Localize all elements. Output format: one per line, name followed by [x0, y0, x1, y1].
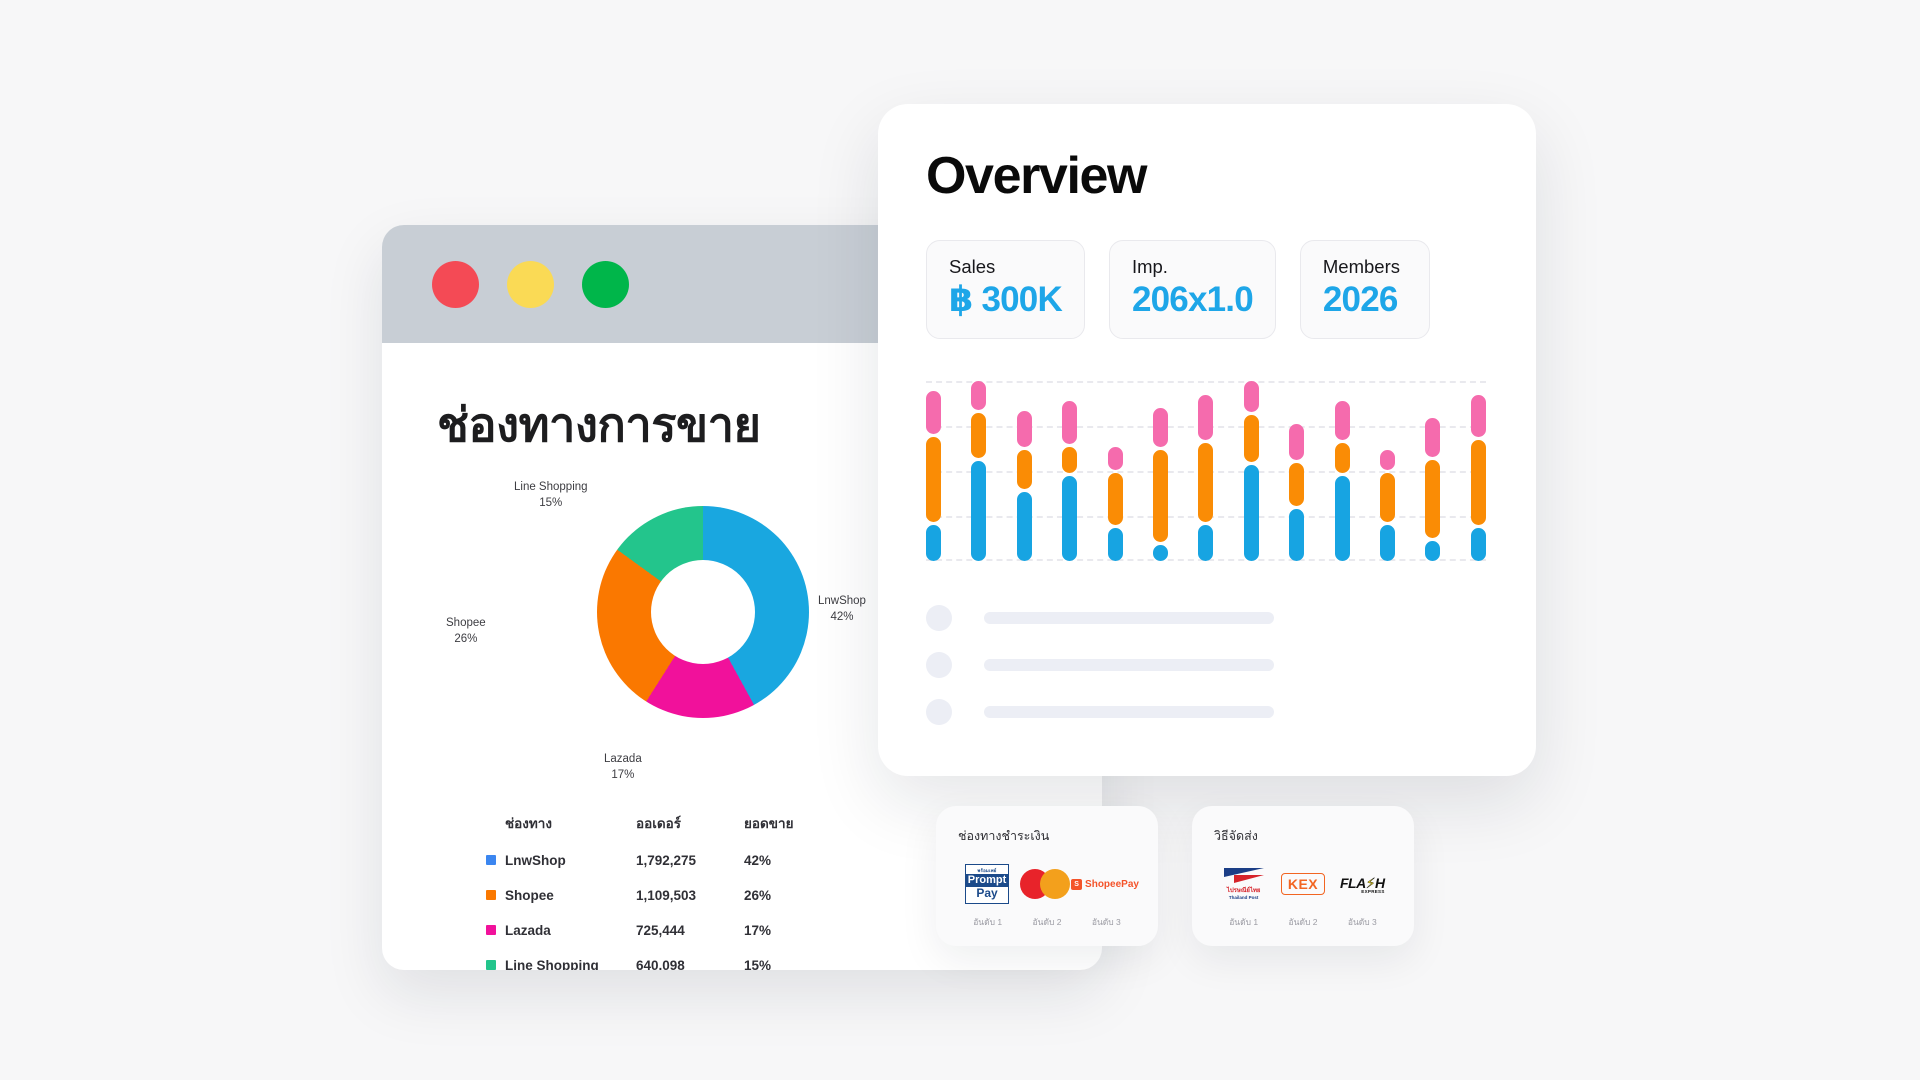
screenshot-stage: ช่องทางการขาย Line Shopping 15% LnwShop …: [0, 0, 1920, 1080]
payment-item-mastercard[interactable]: [1016, 869, 1074, 899]
channel-color-swatch: [486, 960, 496, 970]
flash-express-logo: FLA⚡H EXPRESS: [1340, 875, 1385, 894]
column-header-orders: ออเดอร์: [636, 812, 744, 834]
thailand-post-red-chevron-icon: [1234, 875, 1264, 883]
bar-column[interactable]: [1289, 381, 1304, 561]
flash-text-part1: FLA: [1340, 875, 1366, 891]
cell-channel: Line Shopping: [486, 958, 636, 971]
donut-label-pct: 42%: [818, 610, 866, 626]
stat-value: 2026: [1323, 280, 1407, 320]
minimize-window-button[interactable]: [507, 261, 554, 308]
shipping-item-flash-express[interactable]: FLA⚡H EXPRESS: [1333, 875, 1392, 894]
bar-segment-blue: [1017, 492, 1032, 561]
promptpay-logo: พร้อมเพย์ Prompt Pay: [965, 864, 1009, 904]
bar-column[interactable]: [1062, 381, 1077, 561]
placeholder-list: [926, 605, 1488, 725]
channel-color-swatch: [486, 855, 496, 865]
bar-segment-pink: [926, 391, 941, 434]
bar-column[interactable]: [1198, 381, 1213, 561]
bar-segment-orange: [1380, 473, 1395, 522]
bar-segment-blue: [971, 461, 986, 561]
bar-segment-orange: [926, 437, 941, 522]
bar-segment-blue: [1244, 465, 1259, 561]
payment-card-title: ช่องทางชำระเงิน: [958, 826, 1136, 846]
bar-segment-pink: [1380, 450, 1395, 470]
bar-column[interactable]: [926, 381, 941, 561]
bar-segment-blue: [926, 525, 941, 561]
shipping-item-thailand-post[interactable]: ไปรษณีย์ไทย Thailand Post: [1214, 868, 1273, 900]
donut-label-text: LnwShop: [818, 595, 866, 607]
bar-segment-pink: [1017, 411, 1032, 447]
bar-segment-orange: [1425, 460, 1440, 539]
bar-segment-pink: [1335, 401, 1350, 440]
bar-segment-orange: [1335, 443, 1350, 472]
stat-card-group: Sales฿ 300KImp.206x1.0Members2026: [926, 240, 1488, 339]
payment-methods-card: ช่องทางชำระเงิน พร้อมเพย์ Prompt Pay S S…: [936, 806, 1158, 946]
bar-column[interactable]: [1108, 381, 1123, 561]
donut-label-pct: 17%: [604, 768, 642, 784]
shipping-rank-3: อันดับ 3: [1333, 915, 1392, 929]
mastercard-orange-circle-icon: [1040, 869, 1070, 899]
cell-channel-label: Lazada: [505, 923, 551, 938]
column-header-channel: ช่องทาง: [486, 812, 636, 834]
donut-label-text: Line Shopping: [514, 481, 588, 493]
list-item[interactable]: [926, 605, 1488, 631]
cell-orders: 640,098: [636, 958, 744, 971]
bar-segment-orange: [1198, 443, 1213, 522]
payment-logo-row: พร้อมเพย์ Prompt Pay S ShopeePay: [958, 862, 1136, 906]
payment-rank-row: อันดับ 1 อันดับ 2 อันดับ 3: [958, 915, 1136, 929]
cell-channel-label: Shopee: [505, 888, 554, 903]
bar-column[interactable]: [971, 381, 986, 561]
shipping-logo-row: ไปรษณีย์ไทย Thailand Post KEX FLA⚡H EXPR…: [1214, 862, 1392, 906]
donut-label-lazada: Lazada 17%: [604, 752, 642, 783]
cell-channel: LnwShop: [486, 853, 636, 868]
donut-label-line-shopping: Line Shopping 15%: [514, 480, 588, 511]
stat-label: Members: [1323, 256, 1407, 278]
avatar-placeholder: [926, 699, 952, 725]
thailand-post-eng-text: Thailand Post: [1229, 895, 1259, 900]
thailand-post-mark-icon: [1224, 868, 1264, 884]
cell-channel-label: LnwShop: [505, 853, 566, 868]
bar-segment-pink: [1425, 418, 1440, 457]
bar-segment-orange: [971, 413, 986, 458]
bar-segment-blue: [1471, 528, 1486, 561]
cell-sales: 17%: [744, 923, 824, 938]
shipping-rank-1: อันดับ 1: [1214, 915, 1273, 929]
bar-segment-orange: [1017, 450, 1032, 489]
bar-column[interactable]: [1244, 381, 1259, 561]
avatar-placeholder: [926, 605, 952, 631]
text-placeholder: [984, 706, 1274, 718]
bar-segment-pink: [1244, 381, 1259, 412]
bar-segment-blue: [1198, 525, 1213, 561]
bar-segment-blue: [1153, 545, 1168, 561]
overview-bar-chart: [926, 381, 1486, 561]
cell-channel-label: Line Shopping: [505, 958, 599, 971]
stat-card-members[interactable]: Members2026: [1300, 240, 1430, 339]
thailand-post-logo: ไปรษณีย์ไทย Thailand Post: [1224, 868, 1264, 900]
donut-label-text: Shopee: [446, 617, 486, 629]
bar-segment-pink: [1108, 447, 1123, 470]
thailand-post-thai-text: ไปรษณีย์ไทย: [1227, 885, 1261, 895]
bar-column[interactable]: [1425, 381, 1440, 561]
shopeepay-badge-icon: S: [1071, 879, 1082, 890]
promptpay-thai-text: พร้อมเพย์: [966, 867, 1008, 874]
avatar-placeholder: [926, 652, 952, 678]
stat-value: ฿ 300K: [949, 280, 1062, 320]
cell-orders: 1,109,503: [636, 888, 744, 903]
bar-segment-pink: [971, 381, 986, 410]
channel-color-swatch: [486, 925, 496, 935]
bar-column[interactable]: [1153, 381, 1168, 561]
stat-value: 206x1.0: [1132, 280, 1253, 320]
overview-title: Overview: [926, 146, 1488, 206]
bar-segment-blue: [1425, 541, 1440, 561]
donut-hole: [651, 560, 755, 664]
mastercard-logo: [1020, 869, 1070, 899]
shipping-item-kerry-express[interactable]: KEX: [1273, 873, 1332, 895]
bar-segment-blue: [1335, 476, 1350, 561]
list-item[interactable]: [926, 699, 1488, 725]
bar-segment-pink: [1153, 408, 1168, 447]
bar-segment-blue: [1062, 476, 1077, 561]
donut-label-pct: 26%: [446, 632, 486, 648]
stat-card-imp[interactable]: Imp.206x1.0: [1109, 240, 1276, 339]
text-placeholder: [984, 659, 1274, 671]
bar-segment-orange: [1153, 450, 1168, 542]
bar-segment-pink: [1198, 395, 1213, 441]
bar-segment-pink: [1471, 395, 1486, 438]
maximize-window-button[interactable]: [582, 261, 629, 308]
shipping-card-title: วิธีจัดส่ง: [1214, 826, 1392, 846]
bar-segment-orange: [1244, 415, 1259, 462]
donut-label-shopee: Shopee 26%: [446, 616, 486, 647]
donut-ring: [597, 506, 809, 718]
stat-card-sales[interactable]: Sales฿ 300K: [926, 240, 1085, 339]
bar-series-container: [926, 381, 1486, 561]
lightning-bolt-icon: ⚡: [1366, 875, 1375, 891]
promptpay-line2: Pay: [966, 887, 1008, 900]
cell-channel: Shopee: [486, 888, 636, 903]
stat-label: Imp.: [1132, 256, 1253, 278]
cell-orders: 1,792,275: [636, 853, 744, 868]
bar-segment-orange: [1108, 473, 1123, 525]
shipping-rank-row: อันดับ 1 อันดับ 2 อันดับ 3: [1214, 915, 1392, 929]
channel-color-swatch: [486, 890, 496, 900]
bar-segment-blue: [1289, 509, 1304, 561]
payment-rank-3: อันดับ 3: [1077, 915, 1136, 929]
table-row[interactable]: Line Shopping640,09815%: [486, 954, 1062, 970]
bar-segment-orange: [1289, 463, 1304, 506]
donut-label-pct: 15%: [514, 496, 588, 512]
shipping-methods-card: วิธีจัดส่ง ไปรษณีย์ไทย Thailand Post KEX…: [1192, 806, 1414, 946]
shopeepay-logo: S ShopeePay: [1071, 879, 1139, 890]
overview-panel: Overview Sales฿ 300KImp.206x1.0Members20…: [878, 104, 1536, 776]
shopeepay-text: ShopeePay: [1085, 879, 1139, 890]
cell-channel: Lazada: [486, 923, 636, 938]
bar-column[interactable]: [1471, 381, 1486, 561]
payment-rank-1: อันดับ 1: [958, 915, 1017, 929]
bar-segment-pink: [1289, 424, 1304, 460]
bar-segment-orange: [1471, 440, 1486, 525]
donut-label-lnwshop: LnwShop 42%: [818, 594, 866, 625]
cell-sales: 26%: [744, 888, 824, 903]
bar-segment-orange: [1062, 447, 1077, 473]
bar-column[interactable]: [1017, 381, 1032, 561]
payment-rank-2: อันดับ 2: [1017, 915, 1076, 929]
list-item[interactable]: [926, 652, 1488, 678]
cell-orders: 725,444: [636, 923, 744, 938]
bar-segment-blue: [1108, 528, 1123, 561]
stat-label: Sales: [949, 256, 1062, 278]
bar-column[interactable]: [1335, 381, 1350, 561]
cell-sales: 15%: [744, 958, 824, 971]
cell-sales: 42%: [744, 853, 824, 868]
payment-item-promptpay[interactable]: พร้อมเพย์ Prompt Pay: [958, 864, 1016, 904]
shipping-rank-2: อันดับ 2: [1273, 915, 1332, 929]
bar-column[interactable]: [1380, 381, 1395, 561]
kerry-express-logo: KEX: [1281, 873, 1325, 895]
column-header-sales: ยอดขาย: [744, 812, 824, 834]
flash-text-part2: H: [1375, 875, 1385, 891]
close-window-button[interactable]: [432, 261, 479, 308]
text-placeholder: [984, 612, 1274, 624]
flash-express-wordmark: FLA⚡H: [1340, 875, 1385, 892]
bar-segment-pink: [1062, 401, 1077, 444]
donut-label-text: Lazada: [604, 753, 642, 765]
bar-segment-blue: [1380, 525, 1395, 561]
payment-item-shopeepay[interactable]: S ShopeePay: [1074, 879, 1136, 890]
